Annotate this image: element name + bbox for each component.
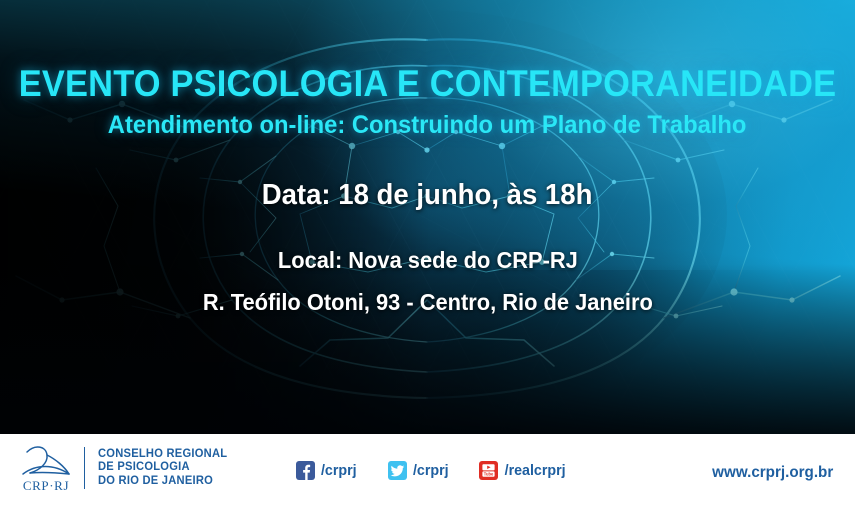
- youtube-icon: Tube: [479, 461, 498, 480]
- hero-text-stack: EVENTO PSICOLOGIA E CONTEMPORANEIDADE At…: [0, 0, 855, 434]
- logo-line-3: DO RIO DE JANEIRO: [98, 475, 227, 489]
- logo-divider: [84, 447, 85, 489]
- facebook-handle: /crprj: [321, 462, 357, 479]
- logo-line-1: CONSELHO REGIONAL: [98, 448, 227, 462]
- footer-bar: CRP·RJ CONSELHO REGIONAL DE PSICOLOGIA D…: [0, 434, 855, 519]
- social-links: /crprj /crprj Tube: [296, 461, 567, 480]
- twitter-handle: /crprj: [412, 462, 448, 479]
- social-link-facebook[interactable]: /crprj: [296, 461, 358, 480]
- website-url[interactable]: www.crprj.org.br: [712, 464, 833, 482]
- crprj-logo[interactable]: CRP·RJ CONSELHO REGIONAL DE PSICOLOGIA D…: [14, 442, 229, 494]
- svg-text:Tube: Tube: [484, 471, 494, 476]
- svg-text:CRP·RJ: CRP·RJ: [23, 478, 69, 493]
- crprj-bird-icon: CRP·RJ: [14, 442, 78, 494]
- logo-line-2: DE PSICOLOGIA: [98, 461, 227, 475]
- event-address: R. Teófilo Otoni, 93 - Centro, Rio de Ja…: [202, 290, 652, 314]
- event-subtitle: Atendimento on-line: Construindo um Plan…: [108, 112, 747, 138]
- event-title: EVENTO PSICOLOGIA E CONTEMPORANEIDADE: [19, 65, 837, 103]
- youtube-handle: /realcrprj: [505, 462, 566, 479]
- social-link-twitter[interactable]: /crprj: [388, 461, 450, 480]
- social-link-youtube[interactable]: Tube /realcrprj: [479, 461, 567, 480]
- logo-wordmark: CONSELHO REGIONAL DE PSICOLOGIA DO RIO D…: [98, 448, 227, 489]
- event-venue: Local: Nova sede do CRP-RJ: [278, 248, 578, 272]
- event-banner: EVENTO PSICOLOGIA E CONTEMPORANEIDADE At…: [0, 0, 855, 519]
- facebook-icon: [296, 461, 315, 480]
- hero-background: EVENTO PSICOLOGIA E CONTEMPORANEIDADE At…: [0, 0, 855, 434]
- event-date: Data: 18 de junho, às 18h: [262, 180, 593, 210]
- twitter-icon: [388, 461, 407, 480]
